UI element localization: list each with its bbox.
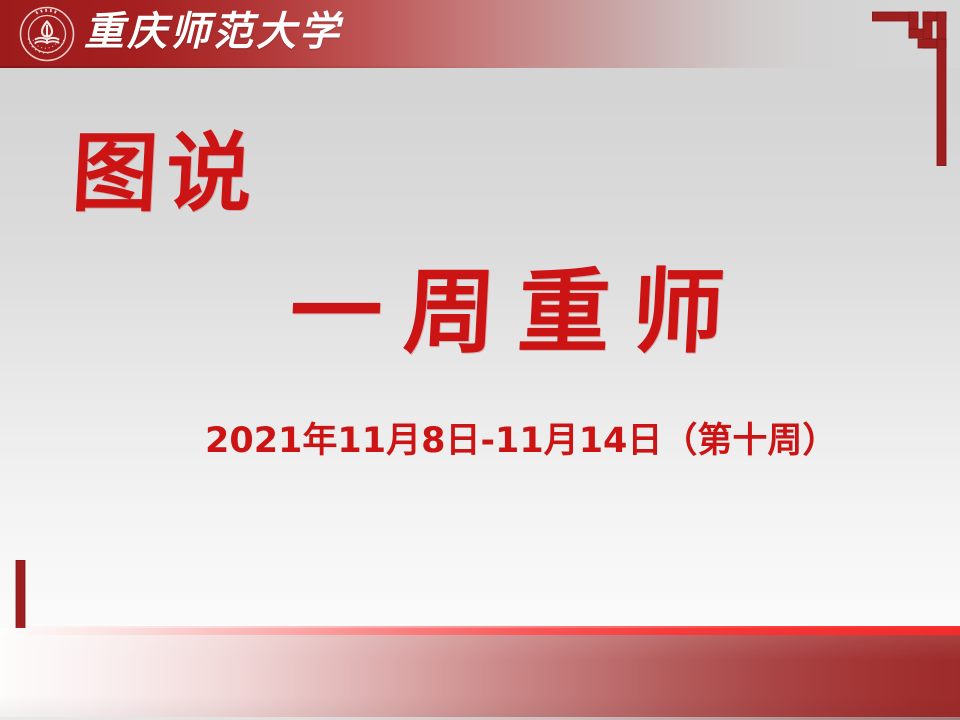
university-emblem-icon xyxy=(19,6,75,62)
bottom-gradient-bar xyxy=(0,635,960,720)
bottom-bar-accent-line xyxy=(0,628,960,635)
slide-title-line-1: 图说 xyxy=(69,124,262,224)
presentation-slide: 重庆师范大学 xyxy=(0,0,960,720)
slide-title-line-2: 一周重师 xyxy=(287,258,749,366)
slide-date-range: 2021年11月8日-11月14日（第十周） xyxy=(205,418,837,464)
university-name: 重庆师范大学 xyxy=(84,4,342,62)
corner-ornament-top-right-icon xyxy=(872,8,950,166)
header-underline xyxy=(0,66,960,68)
